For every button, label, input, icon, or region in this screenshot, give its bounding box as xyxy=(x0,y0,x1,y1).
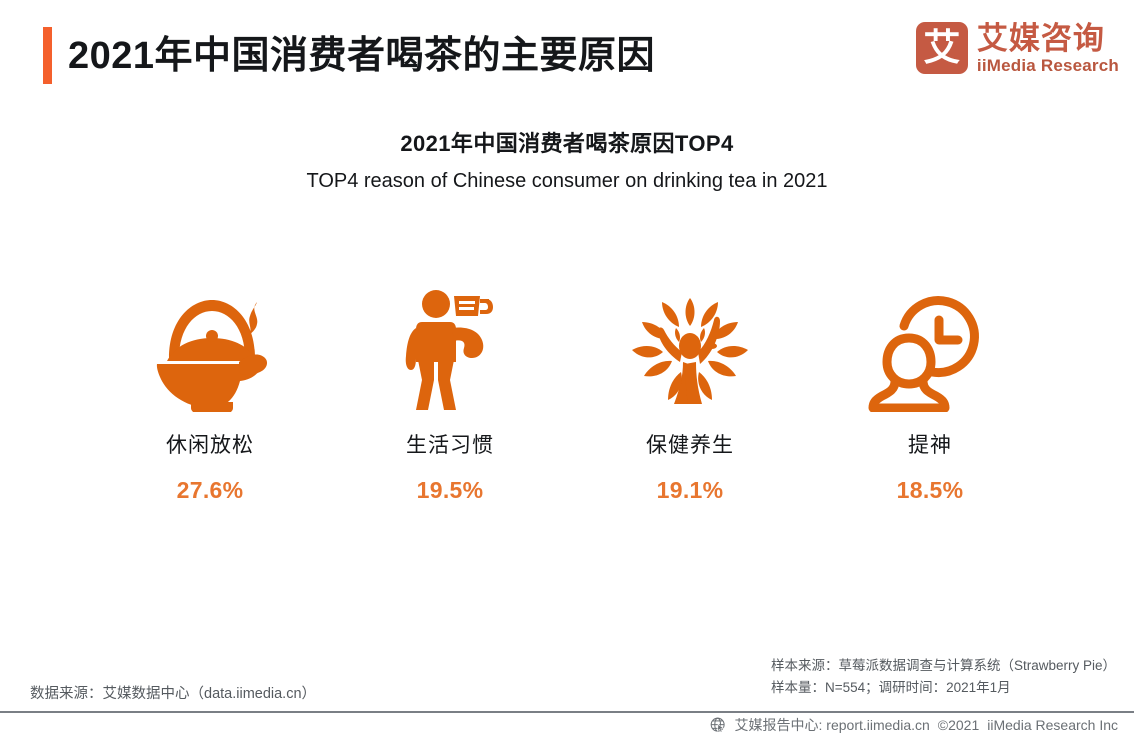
report-center-label[interactable]: 艾媒报告中心: report.iimedia.cn xyxy=(735,715,930,735)
company-label: iiMedia Research Inc xyxy=(987,717,1118,733)
person-clock-icon xyxy=(865,280,995,415)
sample-size: 样本量：N=554；调研时间：2021年1月 xyxy=(771,677,1116,699)
person-drinking-icon xyxy=(385,280,515,415)
brand-mark-glyph: 艾 xyxy=(916,22,968,74)
reason-item: 保健养生 19.1% xyxy=(590,280,790,504)
bottom-bar: 艾媒报告中心: report.iimedia.cn ©2021 iiMedia … xyxy=(0,713,1134,737)
globe-cursor-icon xyxy=(710,717,727,734)
teapot-icon xyxy=(145,280,275,415)
chart-subtitle: TOP4 reason of Chinese consumer on drink… xyxy=(0,170,1134,193)
brand-logo: 艾 艾媒咨询 iiMedia Research xyxy=(916,22,1119,74)
copyright-label: ©2021 xyxy=(938,717,979,733)
brand-mark-icon: 艾 xyxy=(916,22,968,74)
reason-item: 生活习惯 19.5% xyxy=(350,280,550,504)
header: 2021年中国消费者喝茶的主要原因 艾 艾媒咨询 iiMedia Researc… xyxy=(0,0,1134,110)
reason-label: 休闲放松 xyxy=(166,429,254,459)
infographic-page: 2021年中国消费者喝茶的主要原因 艾 艾媒咨询 iiMedia Researc… xyxy=(0,0,1134,737)
sample-source: 样本来源：草莓派数据调查与计算系统（Strawberry Pie） xyxy=(771,655,1116,677)
chart-title: 2021年中国消费者喝茶原因TOP4 xyxy=(0,126,1134,158)
page-title: 2021年中国消费者喝茶的主要原因 xyxy=(68,27,868,87)
reason-item: 提神 18.5% xyxy=(830,280,1030,504)
reason-value: 19.1% xyxy=(657,477,724,504)
wellness-tree-icon xyxy=(625,280,755,415)
reason-label: 保健养生 xyxy=(646,429,734,459)
reason-value: 19.5% xyxy=(417,477,484,504)
reasons-row: 休闲放松 27.6% xyxy=(110,280,1030,504)
reason-label: 生活习惯 xyxy=(406,429,494,459)
brand-text: 艾媒咨询 iiMedia Research xyxy=(977,23,1119,74)
title-accent-bar xyxy=(43,27,52,84)
reason-label: 提神 xyxy=(908,429,952,459)
brand-name-en: iiMedia Research xyxy=(977,57,1119,74)
sample-note: 样本来源：草莓派数据调查与计算系统（Strawberry Pie） 样本量：N=… xyxy=(771,655,1116,699)
data-source: 数据来源：艾媒数据中心（data.iimedia.cn） xyxy=(30,682,316,703)
reason-value: 27.6% xyxy=(177,477,244,504)
reason-value: 18.5% xyxy=(897,477,964,504)
brand-name-cn: 艾媒咨询 xyxy=(977,23,1119,54)
reason-item: 休闲放松 27.6% xyxy=(110,280,310,504)
